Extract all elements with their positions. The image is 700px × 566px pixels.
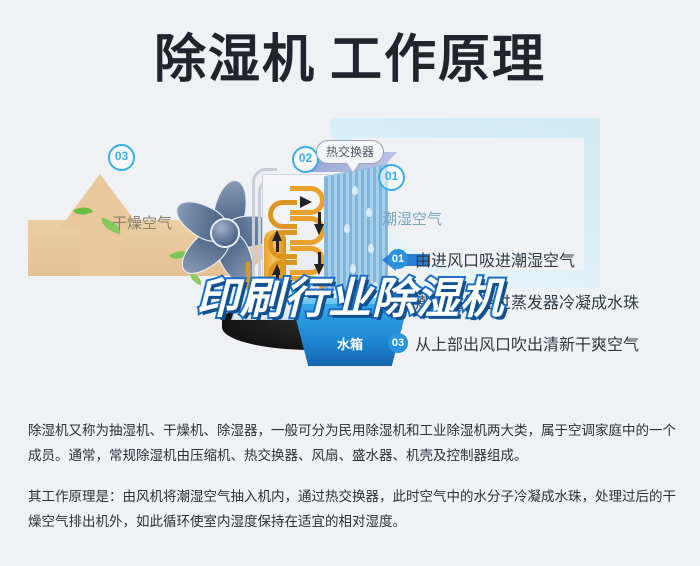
page-title: 除湿机工作原理 <box>0 28 700 92</box>
step-number: 03 <box>388 333 408 353</box>
list-item: 03 从上部出风口吹出清新干爽空气 <box>388 327 688 358</box>
badge-03: 03 <box>108 144 135 171</box>
water-droplet <box>368 244 374 253</box>
airflow-arrow-stem <box>318 212 321 224</box>
overlay-watermark: 印刷行业除湿机 <box>0 264 700 326</box>
page-title-part2: 工作原理 <box>330 31 546 89</box>
step-text: 从上部出风口吹出清新干爽空气 <box>415 331 639 355</box>
airflow-arrow-down <box>314 224 324 235</box>
fan-hub <box>212 220 238 246</box>
body-paragraph-2: 其工作原理是：由风机将潮湿空气抽入机内，通过热交换器，此时空气中的水分子冷凝成水… <box>28 484 676 534</box>
infographic-page: 除湿机工作原理 <box>0 0 700 566</box>
water-droplet <box>366 208 372 217</box>
caption-humid-air: 潮湿空气 <box>382 208 442 229</box>
page-title-part1: 除湿机 <box>154 31 316 89</box>
water-droplet <box>344 224 350 233</box>
caption-dry-air: 干燥空气 <box>112 212 172 233</box>
badge-02: 02 <box>292 146 319 173</box>
copper-coil <box>268 200 297 229</box>
body-paragraph-1: 除湿机又称为抽湿机、干燥机、除湿器，一般可分为民用除湿机和工业除湿机两大类，属于… <box>28 418 676 468</box>
heat-exchanger-callout: 热交换器 <box>316 140 384 164</box>
airflow-arrow-stem <box>276 240 279 252</box>
airflow-arrow-up <box>272 230 282 241</box>
badge-01: 01 <box>378 164 405 191</box>
airflow-arrow-right <box>300 196 317 208</box>
water-droplet <box>352 186 358 195</box>
airflow-arrow-stem <box>318 252 321 264</box>
